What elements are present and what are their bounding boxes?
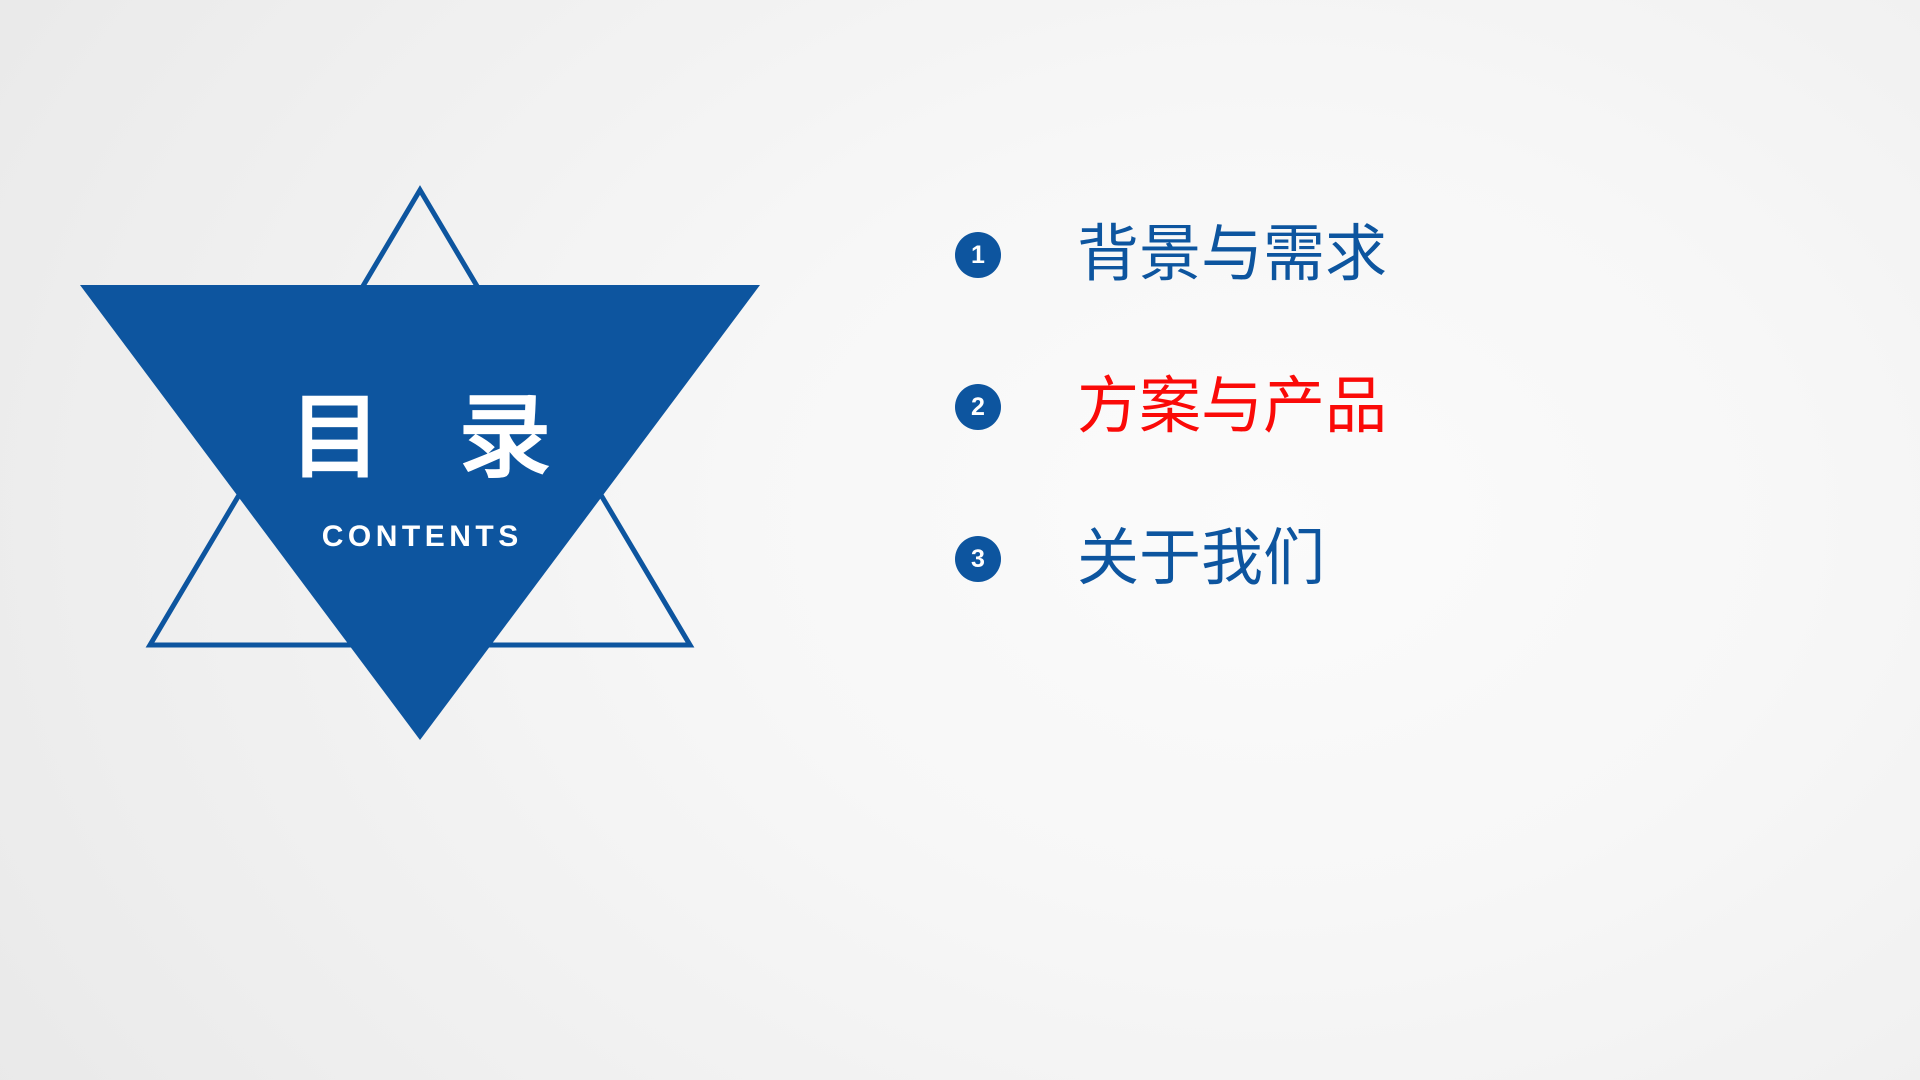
star-of-david-graphic bbox=[70, 180, 770, 860]
agenda-number-badge-3: 3 bbox=[955, 536, 1001, 582]
contents-emblem: 目 录 CONTENTS bbox=[70, 180, 770, 860]
filled-triangle-down bbox=[80, 285, 760, 740]
agenda-item-1[interactable]: 1 背景与需求 bbox=[955, 205, 1775, 305]
slide-canvas: 目 录 CONTENTS 1 背景与需求 2 方案与产品 3 关于我们 bbox=[0, 0, 1920, 1080]
agenda-list: 1 背景与需求 2 方案与产品 3 关于我们 bbox=[955, 205, 1775, 609]
agenda-number-badge-2: 2 bbox=[955, 384, 1001, 430]
agenda-item-label-2[interactable]: 方案与产品 bbox=[1077, 376, 1387, 438]
agenda-item-3[interactable]: 3 关于我们 bbox=[955, 509, 1775, 609]
agenda-item-2[interactable]: 2 方案与产品 bbox=[955, 357, 1775, 457]
agenda-item-label-1[interactable]: 背景与需求 bbox=[1077, 224, 1387, 286]
agenda-item-label-3[interactable]: 关于我们 bbox=[1077, 528, 1325, 590]
agenda-number-badge-1: 1 bbox=[955, 232, 1001, 278]
